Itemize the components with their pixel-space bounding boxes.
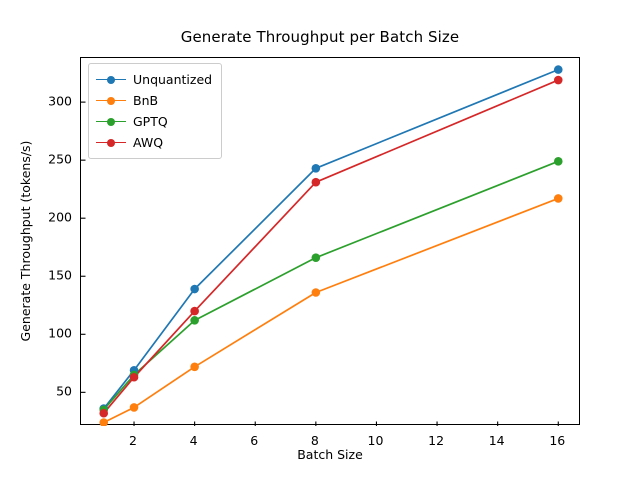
series-line-gptq	[104, 161, 559, 409]
data-point-marker	[554, 194, 563, 203]
data-point-marker	[554, 65, 563, 74]
data-point-marker	[190, 285, 199, 294]
data-point-marker	[554, 157, 563, 166]
legend-item-unquantized[interactable]: Unquantized	[96, 69, 212, 90]
y-tick-label: 200	[8, 210, 72, 225]
legend-item-label: GPTQ	[133, 114, 168, 129]
x-tick-label: 14	[477, 433, 517, 448]
chart-legend: UnquantizedBnBGPTQAWQ	[88, 63, 222, 159]
x-tick-label: 12	[416, 433, 456, 448]
legend-marker-icon	[96, 95, 126, 107]
x-tick-label: 2	[113, 433, 153, 448]
x-tick-label: 10	[356, 433, 396, 448]
x-tick-label: 4	[174, 433, 214, 448]
y-tick-label: 300	[8, 94, 72, 109]
legend-item-bnb[interactable]: BnB	[96, 90, 212, 111]
data-point-marker	[312, 288, 321, 297]
x-tick-label: 8	[295, 433, 335, 448]
x-tick-label: 16	[537, 433, 577, 448]
legend-item-gptq[interactable]: GPTQ	[96, 111, 212, 132]
data-point-marker	[312, 178, 321, 187]
x-axis-tick-labels: 246810121416	[80, 425, 580, 447]
legend-marker-icon	[96, 137, 126, 149]
legend-marker-icon	[96, 116, 126, 128]
data-point-marker	[190, 362, 199, 371]
legend-item-awq[interactable]: AWQ	[96, 132, 212, 153]
legend-item-label: BnB	[133, 93, 158, 108]
y-tick-label: 50	[8, 384, 72, 399]
legend-item-label: Unquantized	[133, 72, 212, 87]
x-tick-label: 6	[234, 433, 274, 448]
data-point-marker	[312, 253, 321, 262]
y-axis-tick-labels: 50100150200250300	[0, 57, 72, 425]
data-point-marker	[99, 409, 108, 418]
data-point-marker	[130, 373, 139, 382]
data-point-marker	[312, 164, 321, 173]
data-point-marker	[130, 403, 139, 412]
data-point-marker	[190, 307, 199, 316]
y-tick-label: 250	[8, 152, 72, 167]
chart-title: Generate Throughput per Batch Size	[0, 28, 640, 46]
y-tick-label: 100	[8, 326, 72, 341]
data-point-marker	[190, 316, 199, 325]
legend-item-label: AWQ	[133, 135, 163, 150]
series-line-bnb	[104, 198, 559, 422]
chart-figure: Generate Throughput per Batch Size Gener…	[0, 0, 640, 480]
legend-marker-icon	[96, 74, 126, 86]
x-axis-label: Batch Size	[80, 447, 580, 462]
y-tick-label: 150	[8, 268, 72, 283]
data-point-marker	[554, 76, 563, 85]
